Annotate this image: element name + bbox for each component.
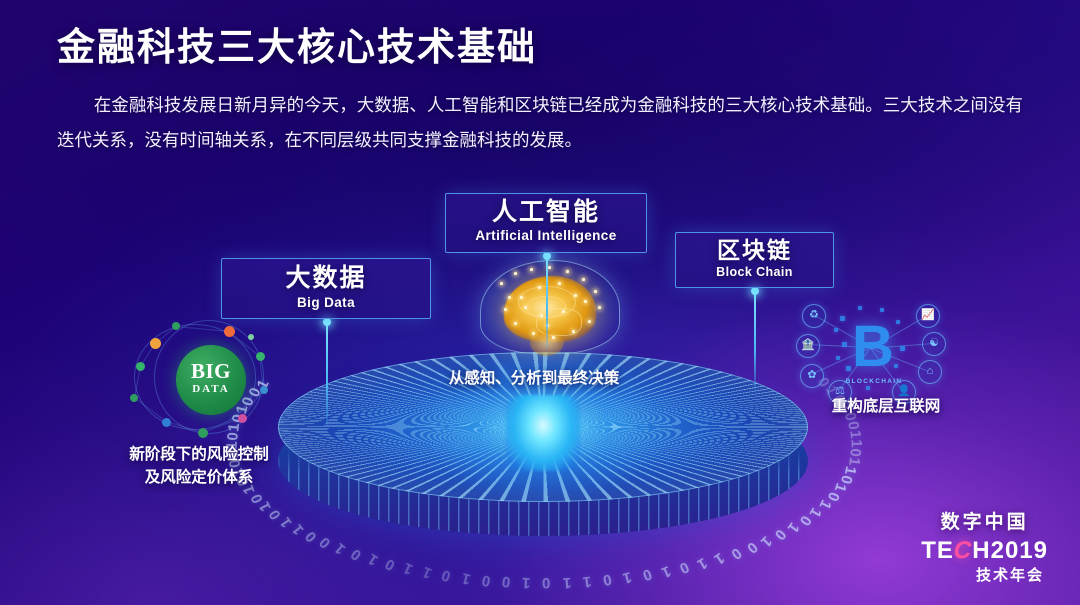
binary-digit: 1 bbox=[694, 554, 710, 573]
binary-digit: 0 bbox=[824, 489, 843, 503]
neuron-spark bbox=[588, 320, 591, 323]
neuron-spark bbox=[584, 300, 587, 303]
node-dot bbox=[136, 362, 145, 371]
logo-subtitle-cn: 技术年会 bbox=[921, 565, 1048, 587]
caption-line: 新阶段下的风险控制 bbox=[88, 443, 310, 466]
pillar-label-en: Block Chain bbox=[676, 264, 833, 280]
logo-tech-pre: TE bbox=[921, 537, 954, 564]
node-dot bbox=[248, 334, 254, 340]
neuron-spark bbox=[582, 278, 585, 281]
binary-digit: 0 bbox=[837, 473, 856, 485]
node-dot bbox=[150, 338, 161, 349]
binary-digit: 0 bbox=[640, 565, 653, 584]
pillar-label-cn: 区块链 bbox=[676, 233, 833, 264]
neuron-spark bbox=[524, 306, 527, 309]
node-dot bbox=[172, 322, 180, 330]
binary-digit: 0 bbox=[677, 558, 692, 577]
neuron-spark bbox=[562, 310, 565, 313]
binary-digit: 1 bbox=[659, 562, 673, 581]
pillar-label-big-data[interactable]: 大数据 Big Data bbox=[221, 258, 431, 319]
node-dot bbox=[162, 418, 171, 427]
home-icon: ⌂ bbox=[918, 360, 942, 384]
pillar-label-en: Big Data bbox=[222, 294, 430, 311]
neuron-spark bbox=[552, 336, 555, 339]
bank-icon: 🏦 bbox=[796, 334, 820, 358]
pillar-label-en: Artificial Intelligence bbox=[446, 227, 646, 244]
bitcoin-b-glyph: B bbox=[850, 312, 896, 382]
binary-digit: 1 bbox=[831, 481, 850, 494]
page-title: 金融科技三大核心技术基础 bbox=[57, 16, 537, 71]
neuron-spark bbox=[574, 294, 577, 297]
binary-digit: 0 bbox=[602, 570, 614, 588]
binary-digit: 1 bbox=[621, 568, 634, 587]
binary-digit: 0 bbox=[542, 574, 550, 591]
node-dot bbox=[256, 352, 265, 361]
binary-digit: 0 bbox=[348, 545, 365, 564]
big-data-graphic: BIG DATA bbox=[128, 318, 288, 440]
binary-digit: 0 bbox=[847, 448, 864, 457]
binary-digit: 0 bbox=[728, 544, 745, 563]
recycle-icon: ♻ bbox=[802, 304, 826, 328]
node-dot bbox=[260, 386, 268, 394]
neuron-spark bbox=[594, 290, 597, 293]
blockchain-graphic: B BLOCKCHAIN ♻ 🏦 ✿ ⚖ 📈 ☯ ⌂ 👤 bbox=[796, 302, 946, 406]
connector-stem-ai bbox=[546, 256, 548, 350]
node-dot bbox=[198, 428, 208, 438]
logo-tech-post: H2019 bbox=[972, 537, 1048, 564]
neuron-spark bbox=[566, 270, 569, 273]
pillar-label-block-chain[interactable]: 区块链 Block Chain bbox=[675, 232, 834, 288]
pillar-label-artificial-intelligence[interactable]: 人工智能 Artificial Intelligence bbox=[445, 193, 647, 253]
neuron-spark bbox=[598, 306, 601, 309]
neuron-spark bbox=[520, 296, 523, 299]
pillar-label-cn: 人工智能 bbox=[446, 194, 646, 227]
chart-icon: 📈 bbox=[916, 304, 940, 328]
neuron-spark bbox=[514, 322, 517, 325]
binary-digit: 1 bbox=[420, 563, 434, 582]
neuron-spark bbox=[508, 296, 511, 299]
connector-stem-bc bbox=[754, 291, 756, 391]
binary-digit: 0 bbox=[844, 420, 862, 431]
connector-stem-bigdata bbox=[326, 322, 328, 426]
binary-digit: 1 bbox=[711, 549, 727, 568]
caption-line: 及风险定价体系 bbox=[88, 466, 310, 489]
binary-digit: 0 bbox=[247, 491, 266, 505]
neuron-spark bbox=[504, 308, 507, 311]
binary-digit: 1 bbox=[816, 497, 835, 512]
binary-digit: 1 bbox=[256, 499, 275, 514]
node-dot bbox=[238, 414, 247, 423]
slide-canvas: 金融科技三大核心技术基础 在金融科技发展日新月异的今天，大数据、人工智能和区块链… bbox=[0, 0, 1080, 605]
neuron-spark bbox=[540, 314, 543, 317]
brain-graphic bbox=[474, 252, 624, 364]
caption-block-chain: 重构底层互联网 bbox=[785, 394, 987, 416]
neuron-spark bbox=[530, 268, 533, 271]
binary-digit: 1 bbox=[460, 569, 472, 588]
neuron-spark bbox=[532, 332, 535, 335]
caption-artificial-intelligence: 从感知、分析到最终决策 bbox=[412, 366, 656, 388]
binary-digit: 0 bbox=[382, 555, 398, 574]
big-data-circle: BIG DATA bbox=[176, 345, 246, 415]
binary-digit: 1 bbox=[806, 505, 825, 521]
binary-digit: 1 bbox=[332, 540, 349, 558]
big-data-subtitle: DATA bbox=[176, 383, 246, 395]
node-dot bbox=[130, 394, 138, 402]
binary-digit: 1 bbox=[522, 574, 531, 591]
event-logo: 数字中国 TECH2019 技术年会 bbox=[921, 510, 1048, 587]
binary-digit: 1 bbox=[365, 550, 381, 569]
leaf-icon: ✿ bbox=[800, 364, 824, 388]
neuron-spark bbox=[538, 286, 541, 289]
binary-digit: 0 bbox=[440, 566, 453, 585]
binary-digit: 0 bbox=[501, 573, 511, 591]
neuron-spark bbox=[572, 330, 575, 333]
pillar-label-cn: 大数据 bbox=[222, 259, 430, 294]
neuron-spark bbox=[500, 282, 503, 285]
neuron-spark bbox=[548, 266, 551, 269]
logo-title-cn: 数字中国 bbox=[921, 510, 1048, 536]
binary-digit: 1 bbox=[562, 573, 572, 591]
binary-digit: 1 bbox=[401, 559, 416, 578]
binary-digit: 1 bbox=[847, 430, 865, 440]
binary-digit: 1 bbox=[842, 465, 860, 476]
logo-wordmark: TECH2019 bbox=[921, 536, 1048, 565]
big-data-title: BIG bbox=[176, 359, 246, 384]
handshake-icon: ☯ bbox=[922, 332, 946, 356]
neuron-spark bbox=[514, 272, 517, 275]
caption-big-data: 新阶段下的风险控制 及风险定价体系 bbox=[88, 443, 310, 489]
binary-digit: 1 bbox=[582, 572, 593, 590]
binary-digit: 1 bbox=[845, 456, 863, 466]
node-dot bbox=[224, 326, 235, 337]
neuron-spark bbox=[558, 282, 561, 285]
body-paragraph: 在金融科技发展日新月异的今天，大数据、人工智能和区块链已经成为金融科技的三大核心… bbox=[57, 88, 1023, 158]
binary-digit: 0 bbox=[480, 571, 491, 589]
binary-digit: 1 bbox=[848, 439, 865, 447]
